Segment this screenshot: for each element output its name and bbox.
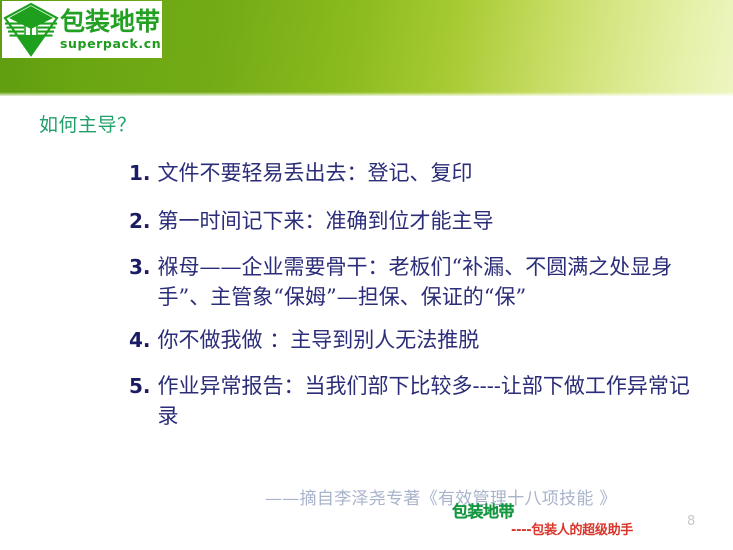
bullet-list: 1. 文件不要轻易丢出去：登记、复印 2. 第一时间记下来：准确到位才能主导 3…	[129, 158, 699, 431]
list-item-number: 4.	[129, 325, 151, 355]
list-item: 3. 褓母——企业需要骨干：老板们“补漏、不圆满之处显身手”、主管象“保姆”—担…	[129, 252, 699, 312]
list-item-text: 褓母——企业需要骨干：老板们“补漏、不圆满之处显身手”、主管象“保姆”—担保、保…	[158, 252, 699, 312]
slide-content: 如何主导？ 1. 文件不要轻易丢出去：登记、复印 2. 第一时间记下来：准确到位…	[0, 96, 733, 550]
presentation-slide: 包装地带 superpack.cn 如何主导？ 1. 文件不要轻易丢出去：登记、…	[0, 0, 733, 550]
list-item: 4. 你不做我做 ：主导到别人无法推脱	[129, 325, 699, 355]
page-title: 如何主导？	[39, 113, 137, 137]
list-item-text: 作业异常报告：当我们部下比较多----让部下做工作异常记录	[158, 371, 699, 431]
header-banner: 包装地带 superpack.cn	[0, 0, 733, 96]
list-item-number: 2.	[129, 206, 151, 236]
list-item-text: 文件不要轻易丢出去：登记、复印	[158, 158, 699, 188]
list-item-text: 第一时间记下来：准确到位才能主导	[158, 206, 699, 236]
page-number: 8	[687, 514, 695, 530]
logo-text-block: 包装地带 superpack.cn	[60, 8, 162, 51]
list-item: 2. 第一时间记下来：准确到位才能主导	[129, 206, 699, 236]
logo-brand-cn: 包装地带	[60, 8, 162, 36]
list-item-number: 1.	[129, 158, 151, 188]
list-item: 5. 作业异常报告：当我们部下比较多----让部下做工作异常记录	[129, 371, 699, 431]
brand-logo[interactable]: 包装地带 superpack.cn	[2, 1, 162, 58]
list-item-text: 你不做我做 ：主导到别人无法推脱	[158, 325, 699, 355]
list-item: 1. 文件不要轻易丢出去：登记、复印	[129, 158, 699, 188]
logo-brand-en: superpack.cn	[60, 37, 162, 51]
source-citation: ——摘自李泽尧专著《有效管理十八项技能 》	[265, 488, 617, 510]
watermark-slogan: ----包装人的超级助手	[511, 522, 633, 539]
list-item-number: 3.	[129, 252, 151, 282]
package-box-logo-icon	[3, 2, 59, 57]
list-item-number: 5.	[129, 371, 151, 401]
